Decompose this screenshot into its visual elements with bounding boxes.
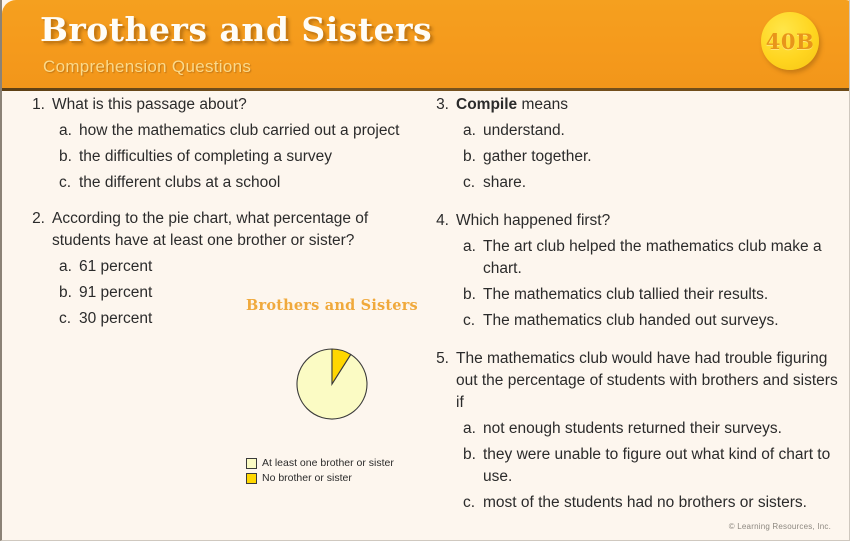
choice-letter: b.: [463, 444, 483, 466]
question-block-1: 1. What is this passage about? a. how th…: [30, 94, 430, 194]
question-block-3: 3. Compile means a. understand. b. gathe…: [434, 94, 838, 194]
question-3-rest: means: [517, 96, 568, 113]
question-5-choice-a[interactable]: a. not enough students returned their su…: [434, 418, 838, 440]
choice-text: 61 percent: [79, 256, 430, 278]
question-5-choice-c[interactable]: c. most of the students had no brothers …: [434, 492, 838, 514]
question-1-choice-a[interactable]: a. how the mathematics club carried out …: [30, 120, 430, 142]
choice-letter: b.: [463, 146, 483, 168]
question-block-5: 5. The mathematics club would have had t…: [434, 348, 838, 514]
question-3-text: Compile means: [456, 94, 838, 116]
chart-title: Brothers and Sisters: [210, 297, 454, 314]
question-2: 2. According to the pie chart, what perc…: [30, 208, 430, 252]
question-2-text: According to the pie chart, what percent…: [52, 208, 430, 252]
question-5: 5. The mathematics club would have had t…: [434, 348, 838, 414]
question-4-choice-a[interactable]: a. The art club helped the mathematics c…: [434, 236, 838, 280]
question-3-number: 3.: [434, 94, 456, 116]
question-5-text: The mathematics club would have had trou…: [456, 348, 838, 414]
choice-text: most of the students had no brothers or …: [483, 492, 838, 514]
question-4-number: 4.: [434, 210, 456, 232]
choice-letter: b.: [59, 282, 79, 304]
question-3-bold-word: Compile: [456, 96, 517, 113]
choice-letter: a.: [463, 236, 483, 258]
legend-label: At least one brother or sister: [262, 456, 394, 471]
page-subtitle: Comprehension Questions: [43, 57, 251, 77]
left-column: 1. What is this passage about? a. how th…: [30, 94, 430, 339]
question-3-choice-c[interactable]: c. share.: [434, 172, 838, 194]
question-3-choice-a[interactable]: a. understand.: [434, 120, 838, 142]
choice-letter: c.: [59, 308, 79, 330]
choice-letter: c.: [463, 310, 483, 332]
choice-text: the different clubs at a school: [79, 172, 430, 194]
choice-letter: a.: [59, 256, 79, 278]
choice-letter: a.: [59, 120, 79, 142]
pie-canvas: [210, 320, 454, 448]
choice-text: understand.: [483, 120, 838, 142]
copyright-notice: © Learning Resources, Inc.: [729, 522, 831, 531]
question-1: 1. What is this passage about?: [30, 94, 430, 116]
question-1-text: What is this passage about?: [52, 94, 430, 116]
legend-swatch-icon: [246, 458, 257, 469]
question-3: 3. Compile means: [434, 94, 838, 116]
question-1-choice-c[interactable]: c. the different clubs at a school: [30, 172, 430, 194]
question-5-choice-b[interactable]: b. they were unable to figure out what k…: [434, 444, 838, 488]
choice-letter: a.: [463, 120, 483, 142]
questions-area: 1. What is this passage about? a. how th…: [2, 94, 850, 541]
choice-text: The art club helped the mathematics club…: [483, 236, 838, 280]
choice-letter: c.: [59, 172, 79, 194]
choice-letter: b.: [463, 284, 483, 306]
question-3-choice-b[interactable]: b. gather together.: [434, 146, 838, 168]
legend-item-1: No brother or sister: [246, 471, 454, 486]
worksheet-card: Brothers and Sisters Comprehension Quest…: [0, 0, 850, 541]
choice-text: share.: [483, 172, 838, 194]
question-4-choice-c[interactable]: c. The mathematics club handed out surve…: [434, 310, 838, 332]
choice-text: not enough students returned their surve…: [483, 418, 838, 440]
question-1-choice-b[interactable]: b. the difficulties of completing a surv…: [30, 146, 430, 168]
card-number-label: 40B: [766, 29, 814, 54]
question-4-text: Which happened first?: [456, 210, 838, 232]
pie-svg: [268, 320, 396, 448]
choice-text: how the mathematics club carried out a p…: [79, 120, 430, 142]
question-4-choice-b[interactable]: b. The mathematics club tallied their re…: [434, 284, 838, 306]
choice-letter: c.: [463, 172, 483, 194]
question-4: 4. Which happened first?: [434, 210, 838, 232]
question-2-number: 2.: [30, 208, 52, 230]
question-5-number: 5.: [434, 348, 456, 370]
choice-text: The mathematics club tallied their resul…: [483, 284, 838, 306]
choice-letter: c.: [463, 492, 483, 514]
pie-chart: Brothers and Sisters At least one brothe…: [210, 297, 454, 512]
choice-letter: b.: [59, 146, 79, 168]
question-block-4: 4. Which happened first? a. The art club…: [434, 210, 838, 332]
question-2-choice-a[interactable]: a. 61 percent: [30, 256, 430, 278]
card-number-badge: 40B: [761, 12, 819, 70]
page-header: Brothers and Sisters Comprehension Quest…: [2, 0, 850, 91]
right-column: 3. Compile means a. understand. b. gathe…: [434, 94, 838, 523]
page-title: Brothers and Sisters: [40, 10, 432, 49]
choice-text: The mathematics club handed out surveys.: [483, 310, 838, 332]
choice-text: gather together.: [483, 146, 838, 168]
choice-text: the difficulties of completing a survey: [79, 146, 430, 168]
chart-legend: At least one brother or sister No brothe…: [210, 456, 454, 486]
legend-swatch-icon: [246, 473, 257, 484]
choice-letter: a.: [463, 418, 483, 440]
legend-item-0: At least one brother or sister: [246, 456, 454, 471]
question-1-number: 1.: [30, 94, 52, 116]
choice-text: they were unable to figure out what kind…: [483, 444, 838, 488]
legend-label: No brother or sister: [262, 471, 352, 486]
